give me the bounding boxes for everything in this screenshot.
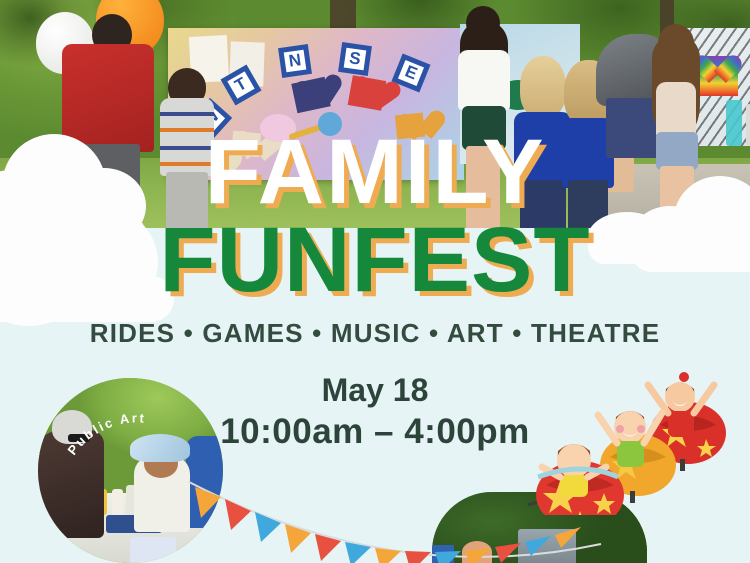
heart-icon (291, 77, 330, 113)
heart-icon (348, 75, 387, 110)
mural-letter-glyph: N (284, 50, 307, 73)
mural-letter-glyph: S (344, 48, 367, 71)
poster-title-line2: FUNFEST (0, 214, 750, 306)
mural-letter-glyph: E (398, 60, 424, 86)
event-time: 10:00am – 4:00pm (0, 412, 750, 452)
poster-subtitle-activities: RIDES • GAMES • MUSIC • ART • THEATRE (0, 318, 750, 349)
mural-letter-tile: N (278, 44, 312, 78)
mural-letter-tile: S (338, 42, 372, 76)
event-date: May 18 (0, 372, 750, 409)
event-poster: W T N S E (0, 0, 750, 563)
poster-title-line1: FAMILY (0, 126, 750, 218)
paper-sheet (130, 537, 176, 563)
mural-letter-glyph: T (227, 71, 254, 98)
